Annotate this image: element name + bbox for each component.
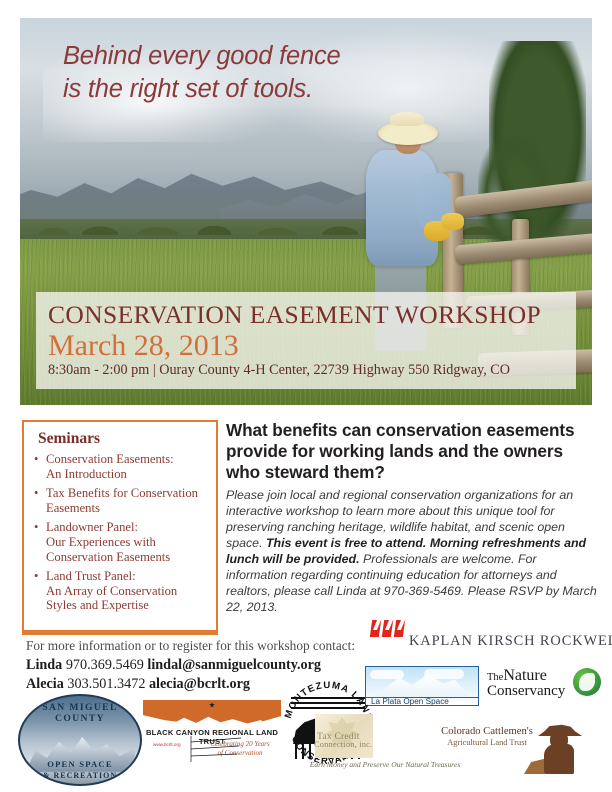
contact-email[interactable]: alecia@bcrlt.org <box>149 676 250 692</box>
tnc-nature: Nature <box>503 667 547 684</box>
hero-tagline-line2: is the right set of tools. <box>63 73 341 106</box>
contact-email[interactable]: lindal@sanmiguelcounty.org <box>147 657 321 673</box>
tnc-the: The <box>487 672 503 683</box>
canyon-lines-icon <box>187 736 243 762</box>
logo-kaplan-kirsch-rockwell: KAPLAN KIRSCH ROCKWELL <box>371 620 591 650</box>
orange-divider <box>22 632 218 635</box>
globe-leaf-icon <box>573 668 601 696</box>
logo-nature-conservancy: TheNature Conservancy <box>487 668 597 702</box>
logo-colorado-cattlemens: Colorado Cattlemen's Agricultural Land T… <box>432 722 600 780</box>
hero-tagline: Behind every good fence is the right set… <box>63 40 341 105</box>
logo-la-plata-open-space: La Plata Open Space <box>365 666 479 706</box>
event-date: March 28, 2013 <box>48 330 564 362</box>
main-copy: What benefits can conservation easements… <box>226 420 598 615</box>
kaplan-wordmark: KAPLAN KIRSCH ROCKWELL <box>409 633 612 650</box>
contact-row: Linda 970.369.5469 lindal@sanmiguelcount… <box>26 656 386 674</box>
seminar-item-label: Landowner Panel: Our Experiences with Co… <box>46 520 170 563</box>
bcrlt-url[interactable]: www.bcrlt.org <box>153 742 181 747</box>
smc-line1: SAN MIGUEL <box>20 702 140 713</box>
ccalt-line1: Colorado Cattlemen's <box>432 726 542 737</box>
seminar-item: • Land Trust Panel: An Array of Conserva… <box>34 569 208 613</box>
bullet-icon: • <box>34 486 38 501</box>
seminar-item: •Landowner Panel: Our Experiences with C… <box>34 520 208 564</box>
cowboy-hat-crown <box>390 112 424 127</box>
seminar-item-label: Conservation Easements: An Introduction <box>46 452 174 481</box>
logo-san-miguel-county: SAN MIGUEL COUNTY OPEN SPACE & RECREATIO… <box>18 694 142 786</box>
la-plata-label: La Plata Open Space <box>371 697 449 706</box>
bullet-icon: • <box>34 569 38 584</box>
kaplan-mark-icon <box>371 620 405 637</box>
main-heading: What benefits can conservation easements… <box>226 420 598 483</box>
seminars-box: Seminars •Conservation Easements: An Int… <box>22 420 218 632</box>
bullet-icon: • <box>34 452 38 467</box>
hero-tagline-line1: Behind every good fence <box>63 40 341 73</box>
logo-black-canyon-land-trust: BLACK CANYON REGIONAL LAND TRUST www.bcr… <box>143 700 281 770</box>
seminar-item: •Conservation Easements: An Introduction <box>34 452 208 481</box>
contact-name: Alecia <box>26 676 64 692</box>
seminar-item: •Tax Benefits for Conservation Easements <box>34 486 208 515</box>
rancher-silhouette-icon <box>532 722 590 774</box>
contact-phone[interactable]: 970.369.5469 <box>66 657 144 673</box>
bullet-icon: • <box>34 520 38 535</box>
contact-phone[interactable]: 303.501.3472 <box>67 676 145 692</box>
ccalt-line2: Agricultural Land Trust <box>432 738 542 747</box>
logo-tax-credit-connection: Tax Credit Connection, inc. Earn Money a… <box>315 714 377 764</box>
event-title-band: CONSERVATION EASEMENT WORKSHOP March 28,… <box>36 292 576 389</box>
seminar-item-label: Land Trust Panel: An Array of Conservati… <box>46 569 177 612</box>
seminars-list: •Conservation Easements: An Introduction… <box>34 452 208 613</box>
tcc-line2: Connection, inc. <box>314 740 372 749</box>
seminar-item-label: Tax Benefits for Conservation Easements <box>46 486 198 515</box>
poster-page: Behind every good fence is the right set… <box>0 0 612 792</box>
smc-line4: & RECREATION <box>20 771 140 780</box>
contact-name: Linda <box>26 657 62 673</box>
smc-line2: COUNTY <box>20 713 140 724</box>
main-body: Please join local and regional conservat… <box>226 487 598 615</box>
work-glove-icon <box>441 213 464 230</box>
seminars-heading: Seminars <box>38 430 208 448</box>
event-details: 8:30am - 2:00 pm | Ouray County 4-H Cent… <box>48 363 564 379</box>
event-title: CONSERVATION EASEMENT WORKSHOP <box>48 302 564 328</box>
smc-line3: OPEN SPACE <box>20 759 140 769</box>
contact-intro: For more information or to register for … <box>26 638 386 655</box>
